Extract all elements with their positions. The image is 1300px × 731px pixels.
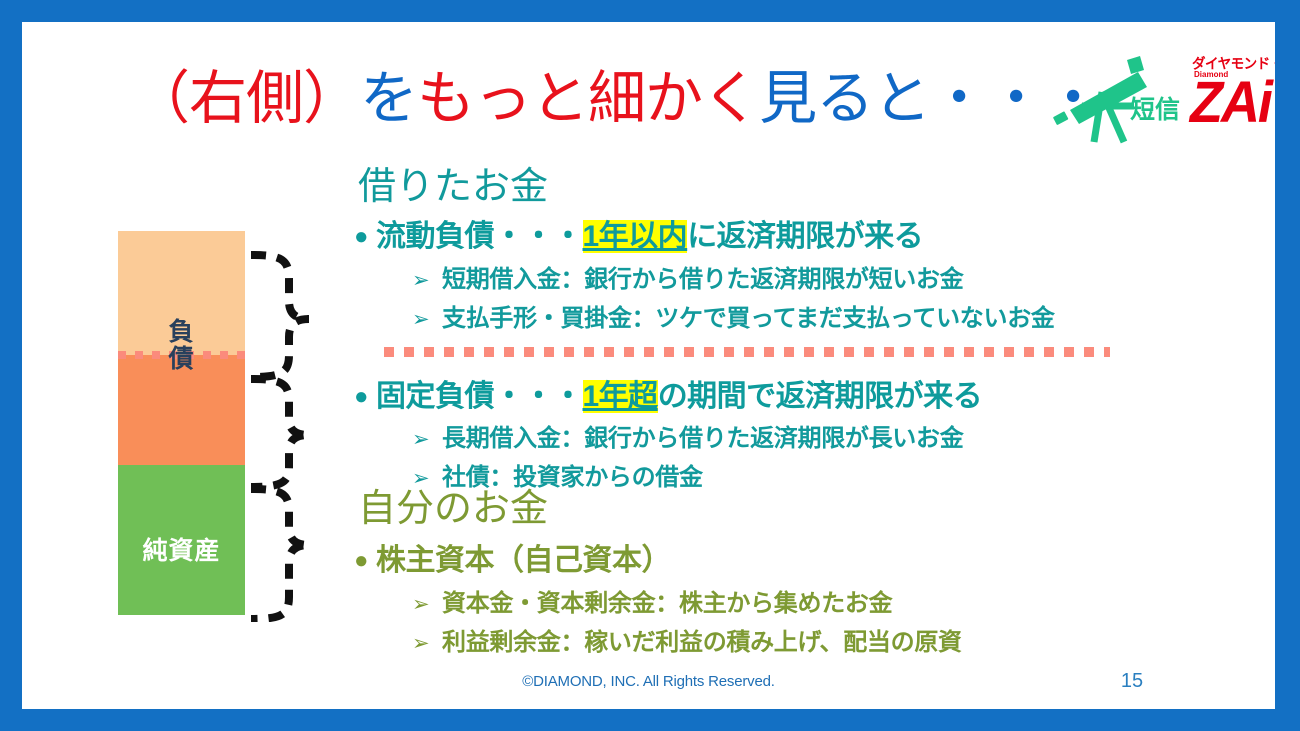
- tanshin-label: 短信: [1130, 90, 1180, 126]
- section-heading-own-money: 自分のお金: [358, 490, 548, 528]
- brace-net-assets: [251, 489, 309, 619]
- bullet-current-liabilities-highlight: 1年以内: [583, 220, 688, 253]
- brace-fixed-liabilities: [251, 379, 309, 487]
- bullet-current-liabilities: ●流動負債・・・1年以内に返済期限が来る: [354, 222, 923, 252]
- bullet-fixed-liabilities-post: の期間で返済期限が来る: [658, 380, 983, 413]
- bullet-shareholders-equity: ●株主資本（自己資本）: [354, 546, 671, 576]
- section-divider-dotted: [384, 347, 1110, 357]
- zai-wordmark: ZAi: [1190, 74, 1271, 132]
- sub-item-notes-payable: ➢支払手形・買掛金：ツケで買ってまだ支払っていないお金: [412, 307, 1055, 331]
- sub-arrow-icon: ➢: [412, 468, 442, 489]
- sub-arrow-icon: ➢: [412, 270, 442, 291]
- balance-sheet-bar: 負 債 純資産: [118, 231, 245, 615]
- bullet-fixed-liabilities-highlight: 1年超: [583, 380, 658, 413]
- brace-group: [247, 227, 357, 622]
- sub-item-notes-payable-text: 支払手形・買掛金：ツケで買ってまだ支払っていないお金: [442, 305, 1055, 332]
- slide-frame: （右側）をもっと細かく見ると・・・: [0, 0, 1300, 731]
- title-part-3: もっと: [417, 66, 588, 131]
- sub-item-corporate-bond: ➢社債：投資家からの借金: [412, 466, 703, 490]
- page-title: （右側）をもっと細かく見ると・・・: [132, 70, 1101, 128]
- sub-item-corporate-bond-text: 社債：投資家からの借金: [442, 464, 703, 491]
- sub-item-capital-surplus-text: 資本金・資本剰余金：株主から集めたお金: [442, 590, 892, 617]
- slide-canvas: （右側）をもっと細かく見ると・・・: [22, 22, 1275, 709]
- sub-item-long-term-loan: ➢長期借入金：銀行から借りた返済期限が長いお金: [412, 427, 963, 451]
- zai-logo: ダイヤモンド・ザイ Diamond ZAi: [1190, 52, 1275, 138]
- bullet-current-liabilities-post: に返済期限が来る: [687, 220, 923, 253]
- bullet-current-liabilities-pre: 流動負債・・・: [376, 220, 583, 253]
- footer-page-number: 15: [1102, 670, 1162, 693]
- bullet-dot-icon: ●: [354, 549, 368, 573]
- section-heading-borrowed-money: 借りたお金: [358, 168, 548, 206]
- bullet-fixed-liabilities-pre: 固定負債・・・: [376, 380, 583, 413]
- brace-current-liabilities: [251, 255, 309, 377]
- bar-label-liabilities-line1: 負: [118, 319, 245, 346]
- bar-label-liabilities: 負 債: [118, 319, 245, 372]
- sub-arrow-icon: ➢: [412, 594, 442, 615]
- sub-item-short-term-loan: ➢短期借入金：銀行から借りた返済期限が短いお金: [412, 268, 963, 292]
- sub-arrow-icon: ➢: [412, 309, 442, 330]
- title-part-4: 細かく: [588, 66, 759, 131]
- bullet-shareholders-equity-text: 株主資本（自己資本）: [376, 544, 671, 577]
- bar-label-net-assets: 純資産: [118, 531, 245, 567]
- sub-arrow-icon: ➢: [412, 633, 442, 654]
- title-part-5: 見ると・・・: [759, 66, 1101, 131]
- sub-item-short-term-loan-text: 短期借入金：銀行から借りた返済期限が短いお金: [442, 266, 963, 293]
- sub-item-long-term-loan-text: 長期借入金：銀行から借りた返済期限が長いお金: [442, 425, 963, 452]
- sub-item-retained-earnings: ➢利益剰余金：稼いだ利益の積み上げ、配当の原資: [412, 631, 962, 655]
- title-part-2: を: [360, 66, 417, 131]
- bar-label-liabilities-line2: 債: [118, 346, 245, 373]
- brand-logo: 短信 ダイヤモンド・ザイ Diamond ZAi: [1052, 48, 1275, 148]
- bullet-fixed-liabilities: ●固定負債・・・1年超の期間で返済期限が来る: [354, 382, 982, 412]
- sub-item-capital-surplus: ➢資本金・資本剰余金：株主から集めたお金: [412, 592, 892, 616]
- bullet-dot-icon: ●: [354, 225, 368, 249]
- title-part-1: （右側）: [132, 66, 360, 131]
- footer-copyright: ©DIAMOND, INC. All Rights Reserved.: [22, 673, 1275, 690]
- bullet-dot-icon: ●: [354, 385, 368, 409]
- sub-arrow-icon: ➢: [412, 429, 442, 450]
- sub-item-retained-earnings-text: 利益剰余金：稼いだ利益の積み上げ、配当の原資: [442, 629, 962, 656]
